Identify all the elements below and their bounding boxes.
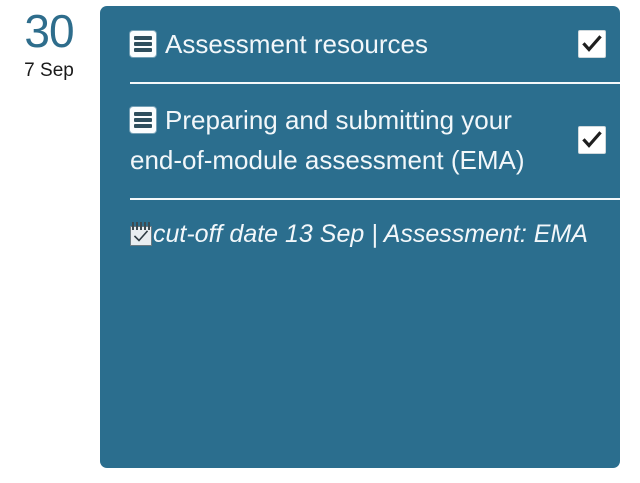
completion-checkbox[interactable] xyxy=(578,126,606,154)
dates-row: cut-off date 13 Sep | Assessment: EMA xyxy=(100,198,620,274)
cut-off-date-text: cut-off date 13 Sep | Assessment: EMA xyxy=(153,220,588,248)
week-date: 7 Sep xyxy=(0,60,98,82)
activity-item[interactable]: Assessment resources xyxy=(100,6,620,82)
activity-title[interactable]: Assessment resources xyxy=(165,29,428,59)
page-icon xyxy=(130,31,156,57)
activity-title[interactable]: Preparing and submitting your end-of-mod… xyxy=(130,105,524,175)
activity-body: Assessment resources xyxy=(130,24,578,64)
activity-item[interactable]: Preparing and submitting your end-of-mod… xyxy=(100,82,620,198)
week-number: 30 xyxy=(0,8,98,54)
calendar-check-icon xyxy=(130,222,152,246)
checkmark-icon xyxy=(582,34,602,54)
dates-text-wrapper: cut-off date 13 Sep | Assessment: EMA xyxy=(130,220,588,248)
activity-body: Preparing and submitting your end-of-mod… xyxy=(130,100,578,180)
activity-title-wrapper: Assessment resources xyxy=(130,29,428,59)
week-row: 30 7 Sep Assessment resources Preparing … xyxy=(0,0,640,483)
activity-panel: Assessment resources Preparing and submi… xyxy=(100,6,620,468)
page-icon xyxy=(130,107,156,133)
completion-checkbox[interactable] xyxy=(578,30,606,58)
checkmark-icon xyxy=(582,130,602,150)
date-gutter: 30 7 Sep xyxy=(0,0,98,483)
activity-title-wrapper: Preparing and submitting your end-of-mod… xyxy=(130,105,524,175)
